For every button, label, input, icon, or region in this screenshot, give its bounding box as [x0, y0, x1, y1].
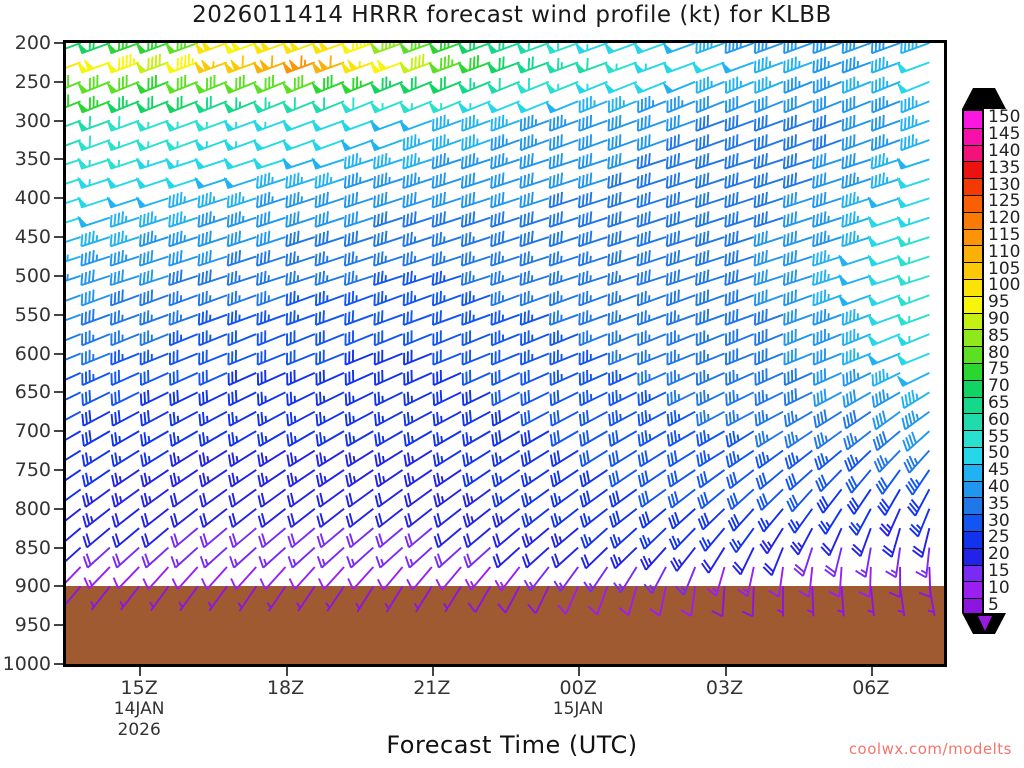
- wind-barb: [229, 412, 257, 426]
- colorbar-segment[interactable]: [964, 380, 982, 397]
- wind-barb: [312, 97, 344, 112]
- wind-barb: [816, 470, 842, 492]
- wind-barb: [462, 271, 491, 285]
- wind-barb: [195, 178, 227, 188]
- wind-barb: [171, 470, 198, 487]
- wind-barb: [81, 270, 110, 286]
- wind-barb: [520, 271, 549, 285]
- wind-barb: [433, 232, 462, 246]
- wind-barb: [551, 370, 579, 385]
- wind-barb: [114, 567, 140, 589]
- wind-barb: [166, 54, 198, 73]
- wind-barb: [434, 431, 461, 446]
- wind-barb: [608, 211, 637, 227]
- wind-profile-plot: [63, 40, 947, 667]
- wind-barb: [462, 291, 490, 306]
- wind-barb: [286, 192, 315, 208]
- wind-barb: [257, 291, 285, 306]
- y-axis-label: 200: [0, 32, 51, 54]
- wind-barb: [435, 528, 462, 547]
- wind-barb: [140, 310, 168, 325]
- wind-barb: [610, 470, 637, 487]
- wind-barb: [784, 43, 812, 53]
- wind-barb: [224, 75, 256, 93]
- wind-barb: [141, 489, 168, 507]
- wind-barb: [579, 153, 608, 169]
- wind-barb: [637, 250, 666, 266]
- colorbar-segment[interactable]: [964, 245, 982, 262]
- x-axis-label: 18Z: [206, 678, 366, 699]
- wind-barb: [609, 134, 637, 150]
- wind-barb: [785, 431, 812, 448]
- wind-barb: [815, 431, 842, 449]
- wind-barb: [492, 410, 520, 426]
- wind-barb: [66, 451, 81, 467]
- colorbar-segment[interactable]: [964, 346, 982, 363]
- colorbar-segment[interactable]: [964, 464, 982, 481]
- wind-barb: [83, 509, 110, 527]
- wind-barb: [868, 315, 900, 325]
- wind-barb: [287, 350, 315, 365]
- wind-barb: [260, 567, 285, 589]
- wind-barb: [78, 60, 110, 73]
- wind-barb: [345, 271, 374, 285]
- wind-barb: [634, 62, 666, 72]
- colorbar-segment[interactable]: [964, 262, 982, 279]
- wind-barb: [141, 370, 169, 385]
- wind-barb: [312, 75, 344, 93]
- wind-barb: [258, 412, 286, 426]
- wind-barb: [312, 140, 344, 150]
- colorbar-bottom-arrow-icon: [962, 613, 1006, 634]
- wind-barb: [82, 390, 110, 405]
- wind-barb: [254, 140, 286, 150]
- wind-barb: [726, 431, 753, 447]
- wind-barb: [229, 390, 257, 405]
- wind-barb: [433, 291, 461, 306]
- x-axis-label-date: 14JAN: [59, 699, 219, 720]
- wind-barb: [195, 60, 227, 73]
- wind-barb: [141, 410, 169, 426]
- wind-barb: [288, 470, 315, 487]
- colorbar-segment[interactable]: [964, 430, 982, 447]
- wind-barb: [902, 411, 929, 430]
- wind-barb: [462, 232, 491, 246]
- wind-barb: [169, 270, 198, 286]
- wind-barb: [551, 450, 578, 466]
- wind-barb: [843, 57, 871, 73]
- wind-barb: [755, 115, 783, 131]
- wind-barb: [901, 43, 929, 53]
- wind-barb: [637, 192, 666, 208]
- wind-barb: [608, 153, 637, 169]
- wind-barb: [579, 271, 608, 285]
- wind-barb: [897, 62, 929, 72]
- wind-barb: [458, 101, 490, 112]
- wind-barb: [634, 82, 666, 93]
- wind-barb: [491, 134, 519, 150]
- wind-barb: [668, 390, 696, 405]
- colorbar-segment[interactable]: [964, 195, 982, 212]
- wind-barb: [316, 211, 345, 227]
- wind-barb: [78, 96, 110, 113]
- wind-barb: [550, 271, 579, 285]
- wind-barb: [756, 431, 783, 447]
- wind-barb: [521, 350, 549, 365]
- wind-barb: [200, 451, 227, 467]
- wind-barb: [725, 192, 754, 208]
- y-axis-tick: [54, 508, 63, 510]
- wind-barb: [107, 158, 139, 168]
- y-axis-label: 700: [0, 420, 51, 442]
- wind-barb: [492, 330, 520, 345]
- wind-barb: [429, 43, 461, 53]
- wind-barb: [698, 489, 725, 508]
- y-axis-tick: [54, 42, 63, 44]
- colorbar-segment[interactable]: [964, 229, 982, 246]
- wind-barb: [111, 270, 140, 286]
- wind-barb: [813, 250, 842, 266]
- wind-barb: [755, 231, 784, 247]
- wind-barb: [229, 509, 256, 527]
- wind-barb: [170, 451, 197, 467]
- wind-barb: [697, 370, 725, 385]
- wind-barb: [82, 290, 110, 306]
- wind-barb: [609, 370, 637, 385]
- wind-barb: [407, 567, 432, 590]
- wind-barb: [839, 255, 871, 265]
- wind-barb: [898, 373, 930, 386]
- colorbar[interactable]: 1501451401351301251201151101051009590858…: [960, 88, 1024, 634]
- wind-barb: [82, 370, 110, 385]
- y-axis-tick: [54, 624, 63, 626]
- wind-barb: [66, 567, 81, 589]
- wind-barb: [520, 192, 549, 208]
- wind-barb: [843, 309, 871, 325]
- wind-barb: [404, 412, 432, 426]
- wind-barb: [375, 330, 403, 345]
- wind-barb: [639, 509, 666, 528]
- wind-barb: [228, 350, 256, 365]
- wind-barb: [493, 528, 520, 547]
- wind-barb: [813, 173, 842, 189]
- wind-barb: [82, 309, 110, 325]
- wind-barb: [198, 211, 227, 227]
- wind-barb: [316, 291, 344, 306]
- wind-barb: [150, 586, 168, 610]
- wind-barb: [345, 310, 373, 325]
- wind-barb: [730, 528, 754, 552]
- wind-barb: [375, 350, 403, 365]
- wind-barb: [289, 548, 315, 568]
- wind-barb: [405, 528, 432, 547]
- wind-barb: [200, 489, 227, 507]
- wind-barb: [758, 509, 783, 532]
- wind-barb: [257, 211, 286, 227]
- colorbar-segments[interactable]: [962, 109, 984, 613]
- wind-barb: [345, 211, 374, 227]
- wind-barb: [316, 271, 345, 285]
- colorbar-segment[interactable]: [964, 397, 982, 414]
- wind-barb: [696, 309, 724, 325]
- wind-barb: [551, 470, 578, 487]
- wind-barb: [726, 290, 754, 306]
- wind-barb: [433, 173, 462, 189]
- wind-barb: [78, 116, 110, 131]
- wind-barb: [376, 548, 402, 568]
- wind-barb: [609, 310, 637, 325]
- wind-barb: [199, 310, 227, 325]
- wind-barb: [371, 60, 403, 73]
- wind-barb: [400, 121, 432, 131]
- wind-barb: [286, 173, 315, 189]
- wind-barb: [179, 586, 198, 610]
- colorbar-segment[interactable]: [964, 413, 982, 430]
- y-axis-tick: [54, 81, 63, 83]
- wind-barb: [784, 231, 813, 247]
- colorbar-segment[interactable]: [964, 363, 982, 380]
- wind-barb: [784, 96, 812, 112]
- colorbar-segment[interactable]: [964, 581, 982, 598]
- wind-barb: [66, 390, 81, 405]
- wind-barb: [520, 173, 549, 189]
- y-axis-tick: [54, 585, 63, 587]
- y-axis-label: 500: [0, 265, 51, 287]
- wind-barb: [729, 509, 754, 531]
- wind-barb: [523, 548, 549, 568]
- wind-barb: [726, 77, 754, 93]
- wind-barb: [137, 75, 169, 93]
- wind-barb: [726, 309, 754, 325]
- wind-barb: [347, 528, 374, 547]
- wind-barb: [254, 75, 286, 93]
- wind-barb: [550, 153, 579, 169]
- wind-barb: [488, 57, 520, 73]
- wind-barb: [228, 330, 256, 345]
- wind-barb: [433, 350, 461, 365]
- wind-barb: [83, 528, 110, 547]
- wind-barb: [319, 567, 344, 589]
- wind-barb: [755, 250, 784, 266]
- wind-barb: [231, 567, 256, 589]
- wind-barb: [224, 55, 256, 72]
- wind-barb: [83, 470, 110, 487]
- wind-barb: [433, 251, 462, 265]
- wind-barb: [376, 528, 403, 547]
- wind-barb: [258, 451, 285, 467]
- wind-barb: [341, 60, 373, 73]
- wind-barb: [579, 134, 607, 150]
- wind-barb: [491, 251, 520, 265]
- colorbar-segment[interactable]: [964, 329, 982, 346]
- colorbar-segment[interactable]: [964, 128, 982, 145]
- wind-barb: [843, 115, 871, 131]
- wind-barb: [224, 121, 256, 131]
- wind-barb: [254, 97, 286, 112]
- wind-barb: [378, 567, 403, 590]
- wind-barb: [609, 96, 637, 112]
- wind-barb: [375, 392, 403, 406]
- wind-barb: [137, 197, 169, 207]
- wind-barb: [433, 271, 462, 285]
- wind-barb: [170, 370, 198, 385]
- wind-barb: [608, 173, 637, 189]
- wind-barb: [66, 410, 81, 426]
- wind-barb: [784, 77, 812, 93]
- wind-barb: [405, 509, 432, 527]
- wind-barb: [140, 270, 169, 286]
- colorbar-segment[interactable]: [964, 313, 982, 330]
- wind-barb: [609, 330, 637, 345]
- wind-barb: [868, 586, 874, 616]
- colorbar-segment[interactable]: [964, 279, 982, 296]
- x-axis-tick: [725, 667, 727, 676]
- wind-barb: [640, 528, 666, 549]
- wind-barb: [638, 370, 666, 385]
- wind-barb: [208, 586, 227, 610]
- wind-barb: [66, 136, 81, 151]
- wind-barb: [345, 330, 373, 345]
- wind-barb: [199, 330, 227, 345]
- wind-barb: [458, 78, 490, 93]
- wind-barb: [224, 43, 256, 53]
- wind-barb: [258, 350, 286, 365]
- wind-barb: [283, 55, 315, 72]
- wind-barb: [580, 470, 607, 487]
- wind-barb: [522, 470, 549, 487]
- wind-barb: [868, 275, 900, 285]
- wind-barb: [259, 489, 286, 507]
- wind-barb: [696, 153, 725, 169]
- wind-barb: [696, 192, 725, 208]
- wind-barb: [166, 178, 198, 188]
- wind-barb: [200, 509, 227, 527]
- y-axis-tick: [54, 469, 63, 471]
- wind-barb: [403, 153, 432, 169]
- wind-barb: [521, 291, 549, 306]
- wind-barb: [755, 290, 783, 306]
- wind-barb: [667, 330, 695, 345]
- wind-barb: [318, 528, 345, 547]
- wind-barb: [696, 115, 724, 131]
- wind-barb: [897, 354, 929, 365]
- wind-barb: [546, 58, 578, 73]
- wind-barb: [287, 370, 315, 385]
- wind-barb: [726, 96, 754, 112]
- colorbar-segment[interactable]: [964, 145, 982, 162]
- colorbar-segment[interactable]: [964, 296, 982, 313]
- wind-barb: [464, 528, 491, 547]
- wind-barb: [374, 310, 402, 325]
- wind-barb: [725, 231, 754, 247]
- colorbar-segment[interactable]: [964, 531, 982, 548]
- wind-barb: [608, 231, 637, 247]
- wind-barb: [318, 548, 344, 568]
- x-axis-label: 21Z: [352, 678, 512, 699]
- wind-barb: [229, 470, 256, 487]
- wind-barb: [843, 348, 871, 364]
- wind-barb: [492, 430, 519, 446]
- wind-barb: [238, 586, 256, 611]
- wind-barb: [667, 115, 695, 131]
- wind-barb: [141, 350, 169, 365]
- wind-barb: [229, 370, 257, 385]
- wind-barb: [66, 329, 81, 345]
- wind-barb: [375, 412, 403, 426]
- wind-barb: [283, 121, 315, 131]
- colorbar-segment[interactable]: [964, 497, 982, 514]
- wind-barb: [142, 548, 168, 568]
- wind-barb: [726, 348, 754, 364]
- wind-barb: [637, 173, 666, 189]
- wind-barb: [580, 489, 607, 507]
- colorbar-segment[interactable]: [964, 548, 982, 565]
- wind-barb: [166, 43, 198, 53]
- wind-barb: [491, 310, 519, 325]
- wind-barb: [667, 173, 696, 189]
- wind-barb: [843, 369, 871, 386]
- wind-barb: [403, 232, 432, 246]
- wind-barb: [257, 192, 286, 208]
- wind-barb: [268, 586, 286, 611]
- wind-barb: [171, 528, 198, 547]
- wind-barb: [346, 451, 373, 467]
- wind-barb: [868, 255, 900, 265]
- wind-barb: [286, 271, 315, 285]
- wind-barb: [817, 489, 841, 513]
- wind-barb: [107, 140, 139, 150]
- wind-barb: [199, 350, 227, 365]
- wind-barb: [345, 251, 374, 265]
- wind-barb: [784, 290, 812, 306]
- wind-barb: [345, 153, 374, 169]
- wind-barb: [404, 392, 432, 406]
- wind-barb: [488, 78, 520, 93]
- wind-barb: [346, 370, 374, 385]
- x-axis-label-time: 18Z: [267, 677, 304, 699]
- colorbar-segment[interactable]: [964, 111, 982, 128]
- wind-barb: [641, 548, 666, 570]
- colorbar-segment[interactable]: [964, 514, 982, 531]
- colorbar-segment[interactable]: [964, 447, 982, 464]
- wind-barb: [107, 178, 139, 188]
- wind-barb: [224, 178, 256, 188]
- wind-barb: [755, 77, 783, 93]
- y-axis-label: 950: [0, 614, 51, 636]
- wind-barb: [78, 136, 110, 151]
- wind-barb: [813, 57, 841, 73]
- colorbar-segment[interactable]: [964, 565, 982, 582]
- y-axis-label: 1000: [0, 653, 51, 675]
- wind-barb: [462, 192, 491, 208]
- wind-barb: [520, 211, 549, 227]
- wind-barb: [112, 370, 140, 385]
- wind-barb: [198, 192, 227, 208]
- colorbar-segment[interactable]: [964, 212, 982, 229]
- wind-barb: [897, 334, 929, 345]
- wind-barb: [608, 250, 637, 266]
- colorbar-segment[interactable]: [964, 481, 982, 498]
- wind-barb: [639, 489, 666, 507]
- colorbar-segment[interactable]: [964, 178, 982, 195]
- y-axis-label: 800: [0, 498, 51, 520]
- colorbar-segment[interactable]: [964, 161, 982, 178]
- wind-barb: [552, 548, 578, 568]
- wind-barb: [609, 291, 637, 306]
- wind-barb: [405, 489, 432, 507]
- wind-barb: [195, 75, 227, 93]
- wind-barb: [784, 115, 812, 131]
